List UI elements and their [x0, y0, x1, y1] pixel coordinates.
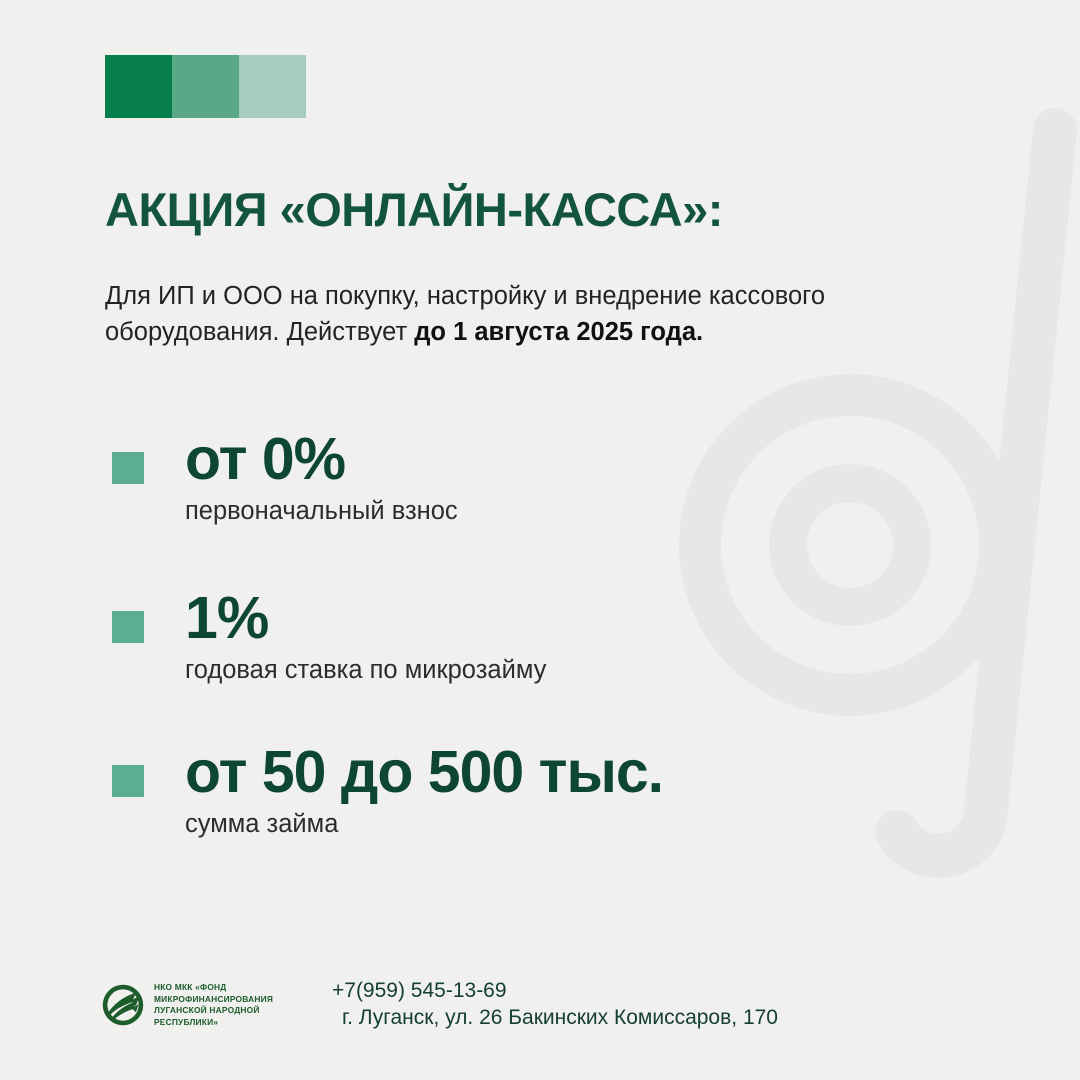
phone-number[interactable]: +7(959) 545-13-69	[332, 978, 778, 1005]
swatch-mint	[239, 55, 306, 118]
highlight-item: 1% годовая ставка по микрозайму	[105, 589, 905, 686]
swatch-strip	[105, 55, 306, 118]
highlight-item: от 0% первоначальный взнос	[105, 430, 905, 527]
fund-emblem-icon	[100, 982, 146, 1028]
highlight-label: годовая ставка по микрозайму	[185, 655, 905, 686]
swatch-medium-green	[172, 55, 239, 118]
page-title: АКЦИЯ «ОНЛАЙН-КАССА»:	[105, 185, 723, 234]
footer: НКО МКК «ФОНД МИКРОФИНАНСИРОВАНИЯ ЛУГАНС…	[100, 978, 778, 1032]
office-address: г. Луганск, ул. 26 Бакинских Комиссаров,…	[332, 1005, 778, 1032]
organization-logo: НКО МКК «ФОНД МИКРОФИНАНСИРОВАНИЯ ЛУГАНС…	[100, 982, 304, 1028]
organization-name: НКО МКК «ФОНД МИКРОФИНАНСИРОВАНИЯ ЛУГАНС…	[154, 982, 304, 1028]
highlight-value: 1%	[185, 589, 905, 648]
watermark-stroke	[897, 130, 1055, 856]
bullet-square-icon	[112, 452, 144, 484]
promo-deadline: до 1 августа 2025 года.	[414, 318, 703, 346]
highlight-label: первоначальный взнос	[185, 496, 905, 527]
promo-poster: АКЦИЯ «ОНЛАЙН-КАССА»: Для ИП и ООО на по…	[0, 0, 1080, 1080]
highlight-value: от 50 до 500 тыс.	[185, 743, 905, 802]
highlight-item: от 50 до 500 тыс. сумма займа	[105, 743, 905, 840]
contact-block: +7(959) 545-13-69 г. Луганск, ул. 26 Бак…	[332, 978, 778, 1032]
swatch-deep-green	[105, 55, 172, 118]
bullet-square-icon	[112, 611, 144, 643]
bullet-square-icon	[112, 765, 144, 797]
promo-description: Для ИП и ООО на покупку, настройку и вне…	[105, 278, 945, 350]
highlight-value: от 0%	[185, 430, 905, 489]
highlight-label: сумма займа	[185, 809, 905, 840]
offer-highlights: от 0% первоначальный взнос 1% годовая ст…	[105, 430, 905, 840]
